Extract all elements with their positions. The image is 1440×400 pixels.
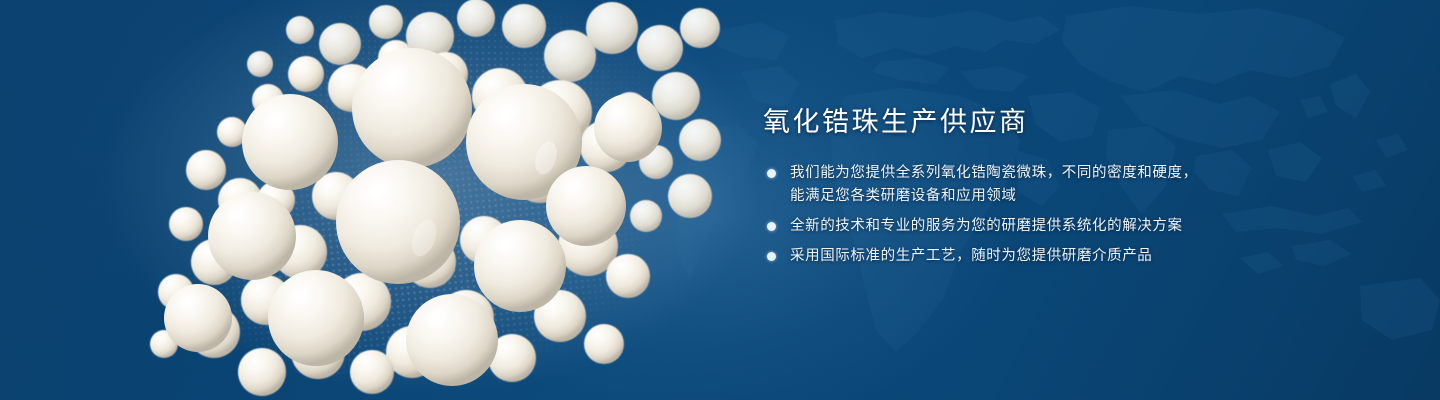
bullet-dot-icon <box>767 252 776 261</box>
list-item-line: 采用国际标准的生产工艺，随时为您提供研磨介质产品 <box>790 245 1283 268</box>
hero-banner: 氧化锆珠生产供应商 我们能为您提供全系列氧化锆陶瓷微珠，不同的密度和硬度， 能满… <box>0 0 1440 400</box>
list-item: 全新的技术和专业的服务为您的研磨提供系统化的解决方案 <box>763 215 1283 238</box>
list-item: 我们能为您提供全系列氧化锆陶瓷微珠，不同的密度和硬度， 能满足您各类研磨设备和应… <box>763 162 1283 208</box>
list-item-text: 采用国际标准的生产工艺，随时为您提供研磨介质产品 <box>790 245 1283 268</box>
list-item-text: 全新的技术和专业的服务为您的研磨提供系统化的解决方案 <box>790 215 1283 238</box>
list-item-line: 全新的技术和专业的服务为您的研磨提供系统化的解决方案 <box>790 215 1283 238</box>
feature-list: 我们能为您提供全系列氧化锆陶瓷微珠，不同的密度和硬度， 能满足您各类研磨设备和应… <box>763 162 1283 268</box>
list-item-line: 我们能为您提供全系列氧化锆陶瓷微珠，不同的密度和硬度， <box>790 162 1283 185</box>
zirconia-beads-image <box>0 0 760 400</box>
bullet-dot-icon <box>767 169 776 178</box>
page-title: 氧化锆珠生产供应商 <box>763 104 1283 140</box>
list-item-text: 我们能为您提供全系列氧化锆陶瓷微珠，不同的密度和硬度， 能满足您各类研磨设备和应… <box>790 162 1283 208</box>
banner-text-panel: 氧化锆珠生产供应商 我们能为您提供全系列氧化锆陶瓷微珠，不同的密度和硬度， 能满… <box>763 104 1283 275</box>
list-item-line: 能满足您各类研磨设备和应用领域 <box>790 185 1283 208</box>
list-item: 采用国际标准的生产工艺，随时为您提供研磨介质产品 <box>763 245 1283 268</box>
bullet-dot-icon <box>767 222 776 231</box>
